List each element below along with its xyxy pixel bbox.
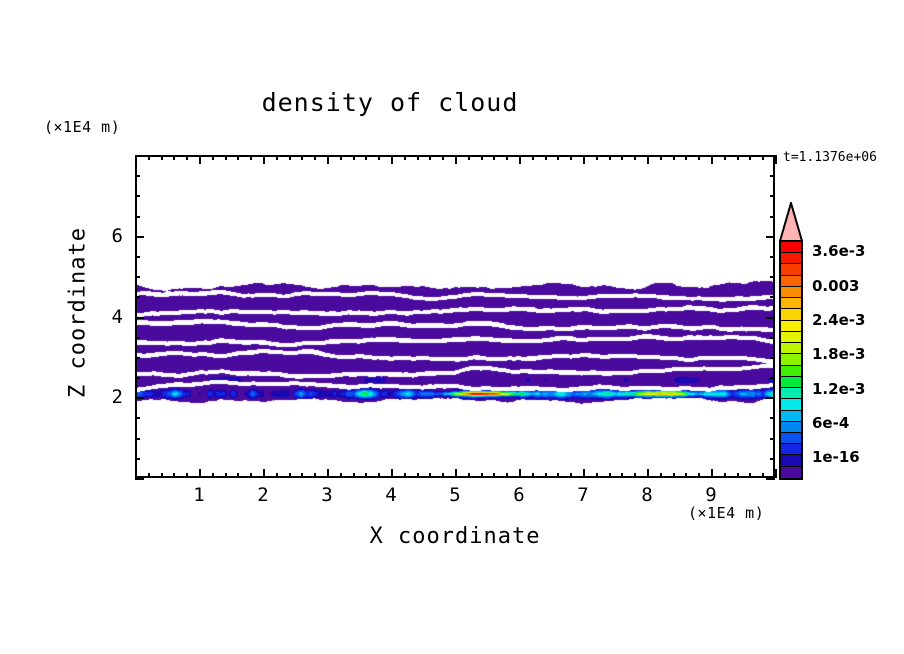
- tick-mark: [770, 337, 775, 339]
- x-tick-label: 4: [371, 484, 411, 506]
- tick-mark: [212, 155, 214, 160]
- colorbar-band: [781, 276, 801, 287]
- tick-mark: [673, 155, 675, 160]
- tick-mark: [737, 473, 739, 478]
- tick-mark: [506, 473, 508, 478]
- x-tick-label: 2: [243, 484, 283, 506]
- tick-mark: [378, 155, 380, 160]
- tick-mark: [481, 155, 483, 160]
- colorbar-band: [781, 388, 801, 399]
- page-title: density of cloud: [0, 88, 780, 117]
- tick-mark: [766, 317, 775, 319]
- y-tick-label: 6: [83, 225, 123, 247]
- tick-mark: [314, 473, 316, 478]
- tick-mark: [698, 155, 700, 160]
- tick-mark: [634, 473, 636, 478]
- tick-mark: [770, 256, 775, 258]
- tick-mark: [468, 473, 470, 478]
- tick-mark: [148, 155, 150, 160]
- tick-mark: [135, 417, 140, 419]
- colorbar-band: [781, 298, 801, 309]
- x-tick-label: 7: [563, 484, 603, 506]
- tick-mark: [135, 469, 137, 478]
- tick-mark: [327, 155, 329, 164]
- colorbar-label: 1.8e-3: [812, 345, 865, 363]
- tick-mark: [148, 473, 150, 478]
- tick-mark: [365, 473, 367, 478]
- tick-mark: [276, 473, 278, 478]
- tick-mark: [770, 357, 775, 359]
- tick-mark: [583, 469, 585, 478]
- tick-mark: [135, 377, 140, 379]
- tick-mark: [724, 473, 726, 478]
- tick-mark: [570, 473, 572, 478]
- tick-mark: [429, 155, 431, 160]
- tick-mark: [442, 473, 444, 478]
- colorbar-band: [781, 264, 801, 275]
- tick-mark: [135, 317, 144, 319]
- tick-mark: [770, 438, 775, 440]
- tick-mark: [557, 155, 559, 160]
- colorbar-label: 1e-16: [812, 448, 860, 466]
- tick-mark: [545, 155, 547, 160]
- tick-mark: [770, 296, 775, 298]
- tick-mark: [770, 458, 775, 460]
- tick-mark: [493, 155, 495, 160]
- tick-mark: [237, 155, 239, 160]
- x-tick-label: 5: [435, 484, 475, 506]
- tick-mark: [570, 155, 572, 160]
- colorbar-band: [781, 366, 801, 377]
- tick-mark: [711, 469, 713, 478]
- tick-mark: [212, 473, 214, 478]
- tick-mark: [391, 469, 393, 478]
- colorbar-band: [781, 354, 801, 365]
- tick-mark: [775, 469, 777, 478]
- tick-mark: [660, 155, 662, 160]
- tick-mark: [186, 473, 188, 478]
- colorbar-label: 0.003: [812, 277, 859, 295]
- tick-mark: [250, 473, 252, 478]
- colorbar-label: 1.2e-3: [812, 380, 865, 398]
- tick-mark: [532, 473, 534, 478]
- colorbar-band: [781, 253, 801, 264]
- tick-mark: [766, 397, 775, 399]
- tick-mark: [135, 438, 140, 440]
- contour-plot-figure: density of cloud (×1E4 m) (×1E4 m) t=1.1…: [0, 0, 904, 654]
- colorbar-band: [781, 411, 801, 422]
- x-tick-label: 8: [627, 484, 667, 506]
- tick-mark: [135, 357, 140, 359]
- tick-mark: [737, 155, 739, 160]
- tick-mark: [609, 473, 611, 478]
- colorbar-band: [781, 321, 801, 332]
- tick-mark: [417, 155, 419, 160]
- tick-mark: [365, 155, 367, 160]
- tick-mark: [327, 469, 329, 478]
- tick-mark: [135, 478, 144, 480]
- colorbar-band: [781, 399, 801, 410]
- tick-mark: [596, 155, 598, 160]
- contour-field: [137, 157, 773, 476]
- tick-mark: [621, 155, 623, 160]
- tick-mark: [135, 337, 140, 339]
- tick-mark: [135, 236, 144, 238]
- tick-mark: [263, 469, 265, 478]
- tick-mark: [135, 256, 140, 258]
- tick-mark: [340, 473, 342, 478]
- tick-mark: [301, 155, 303, 160]
- tick-mark: [770, 377, 775, 379]
- tick-mark: [455, 155, 457, 164]
- tick-mark: [263, 155, 265, 164]
- tick-mark: [301, 473, 303, 478]
- tick-mark: [766, 478, 775, 480]
- x-tick-label: 9: [691, 484, 731, 506]
- tick-mark: [634, 155, 636, 160]
- tick-mark: [353, 155, 355, 160]
- x-tick-label: 3: [307, 484, 347, 506]
- tick-mark: [685, 473, 687, 478]
- x-axis-title: X coordinate: [135, 524, 775, 549]
- colorbar-band: [781, 455, 801, 466]
- tick-mark: [770, 276, 775, 278]
- colorbar-band: [781, 422, 801, 433]
- colorbar-band: [781, 242, 801, 253]
- tick-mark: [766, 155, 775, 157]
- y-axis-unit-label: (×1E4 m): [44, 118, 120, 136]
- tick-mark: [685, 155, 687, 160]
- tick-mark: [276, 155, 278, 160]
- tick-mark: [609, 155, 611, 160]
- tick-mark: [135, 276, 140, 278]
- tick-mark: [199, 155, 201, 164]
- colorbar-over-arrow: [779, 202, 803, 242]
- tick-mark: [250, 155, 252, 160]
- x-tick-label: 1: [179, 484, 219, 506]
- colorbar-band: [781, 343, 801, 354]
- tick-mark: [673, 473, 675, 478]
- tick-mark: [442, 155, 444, 160]
- tick-mark: [557, 473, 559, 478]
- tick-mark: [135, 216, 140, 218]
- tick-mark: [353, 473, 355, 478]
- tick-mark: [340, 155, 342, 160]
- tick-mark: [225, 473, 227, 478]
- tick-mark: [404, 473, 406, 478]
- tick-mark: [621, 473, 623, 478]
- colorbar-band: [781, 309, 801, 320]
- tick-mark: [749, 155, 751, 160]
- colorbar-band: [781, 433, 801, 444]
- tick-mark: [455, 469, 457, 478]
- tick-mark: [749, 473, 751, 478]
- tick-mark: [135, 397, 144, 399]
- tick-mark: [698, 473, 700, 478]
- colorbar-label: 2.4e-3: [812, 311, 865, 329]
- colorbar-band: [781, 377, 801, 388]
- tick-mark: [404, 155, 406, 160]
- colorbar-label: 6e-4: [812, 414, 849, 432]
- tick-mark: [314, 155, 316, 160]
- tick-mark: [135, 458, 140, 460]
- tick-mark: [647, 469, 649, 478]
- tick-mark: [173, 473, 175, 478]
- tick-mark: [391, 155, 393, 164]
- tick-mark: [647, 155, 649, 164]
- tick-mark: [186, 155, 188, 160]
- tick-mark: [493, 473, 495, 478]
- tick-mark: [724, 155, 726, 160]
- tick-mark: [660, 473, 662, 478]
- colorbar-band: [781, 444, 801, 455]
- tick-mark: [775, 155, 777, 164]
- colorbar-band: [781, 287, 801, 298]
- timestamp-annotation: t=1.1376e+06: [783, 150, 877, 165]
- tick-mark: [770, 216, 775, 218]
- tick-mark: [225, 155, 227, 160]
- x-axis-unit-label: (×1E4 m): [688, 504, 764, 522]
- tick-mark: [770, 175, 775, 177]
- tick-mark: [762, 473, 764, 478]
- tick-mark: [596, 473, 598, 478]
- tick-mark: [378, 473, 380, 478]
- tick-mark: [429, 473, 431, 478]
- tick-mark: [770, 417, 775, 419]
- tick-mark: [545, 473, 547, 478]
- tick-mark: [532, 155, 534, 160]
- tick-mark: [199, 469, 201, 478]
- tick-mark: [770, 195, 775, 197]
- tick-mark: [135, 155, 144, 157]
- tick-mark: [289, 155, 291, 160]
- colorbar: [779, 240, 803, 480]
- x-tick-label: 6: [499, 484, 539, 506]
- tick-mark: [481, 473, 483, 478]
- tick-mark: [762, 155, 764, 160]
- tick-mark: [468, 155, 470, 160]
- colorbar-band: [781, 467, 801, 478]
- plot-area: [135, 155, 775, 478]
- colorbar-band: [781, 332, 801, 343]
- tick-mark: [417, 473, 419, 478]
- y-tick-label: 2: [83, 386, 123, 408]
- colorbar-label: 3.6e-3: [812, 242, 865, 260]
- tick-mark: [506, 155, 508, 160]
- y-tick-label: 4: [83, 306, 123, 328]
- tick-mark: [135, 175, 140, 177]
- tick-mark: [766, 236, 775, 238]
- tick-mark: [519, 155, 521, 164]
- tick-mark: [135, 296, 140, 298]
- tick-mark: [135, 195, 140, 197]
- tick-mark: [161, 155, 163, 160]
- tick-mark: [519, 469, 521, 478]
- tick-mark: [583, 155, 585, 164]
- tick-mark: [161, 473, 163, 478]
- tick-mark: [237, 473, 239, 478]
- tick-mark: [173, 155, 175, 160]
- tick-mark: [289, 473, 291, 478]
- tick-mark: [711, 155, 713, 164]
